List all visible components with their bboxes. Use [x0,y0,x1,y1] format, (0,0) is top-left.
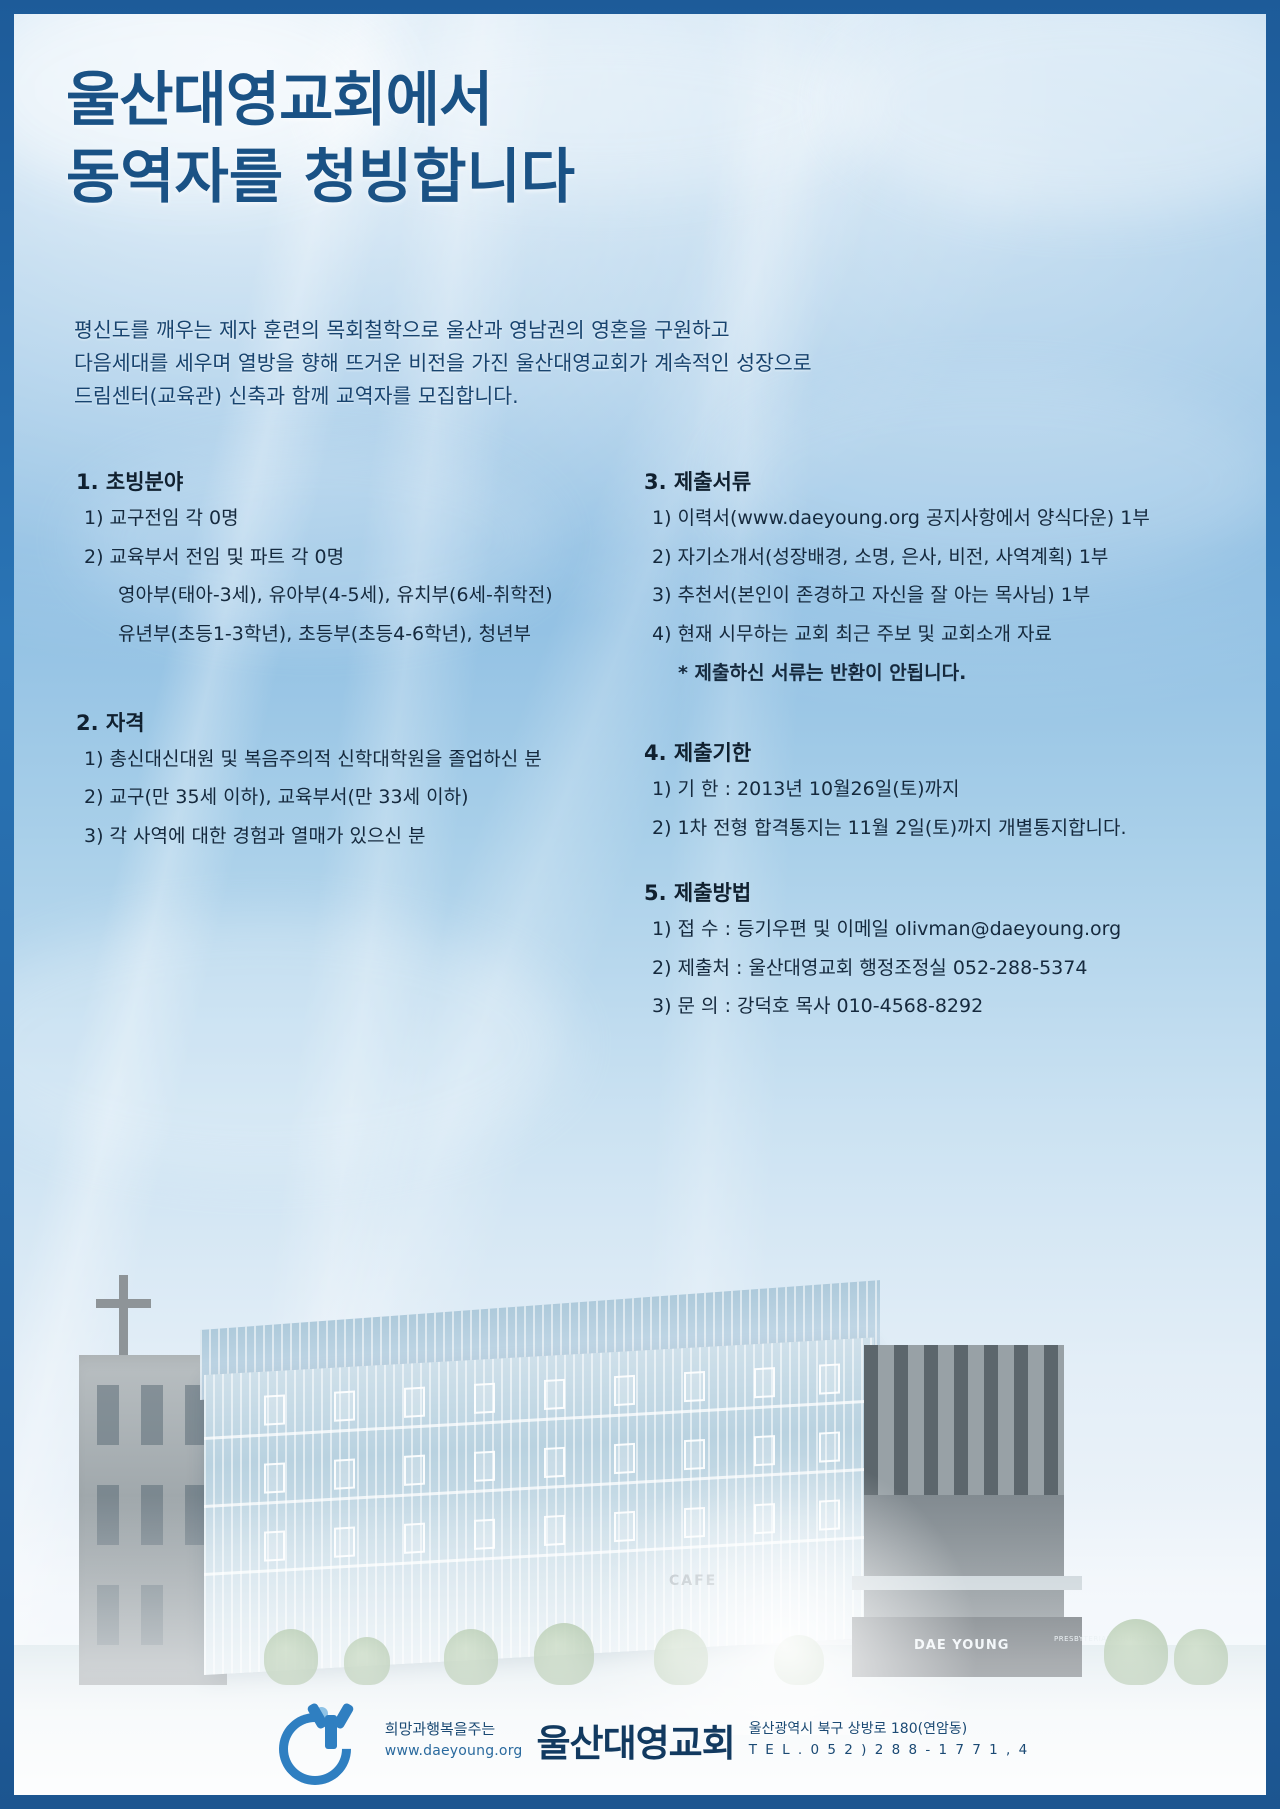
section-recruit-fields: 1. 초빙분야 1) 교구전임 각 0명 2) 교육부서 전임 및 파트 각 0… [76,466,596,647]
footer-bar: 희망과행복을주는 www.daeyoung.org 울산대영교회 울산광역시 북… [14,1709,1266,1771]
lead-line-3: 드림센터(교육관) 신축과 함께 교역자를 모집합니다. [74,380,812,413]
section-title: 2. 자격 [76,707,596,737]
section-title: 3. 제출서류 [644,466,1244,496]
list-item: 2) 1차 전형 합격통지는 11월 2일(토)까지 개별통지합니다. [652,816,1244,841]
documents-note: * 제출하신 서류는 반환이 안됩니다. [678,661,1244,686]
section-deadline: 4. 제출기한 1) 기 한 : 2013년 10월26일(토)까지 2) 1차… [644,737,1244,840]
list-subitem: 영아부(태아-3세), 유아부(4-5세), 유치부(6세-취학전) [118,583,596,608]
footer-address: 울산광역시 북구 상방로 180(연암동) [749,1719,1029,1741]
right-column: 3. 제출서류 1) 이력서(www.daeyoung.org 공지사항에서 양… [644,466,1244,1033]
list-item: 1) 기 한 : 2013년 10월26일(토)까지 [652,777,1244,802]
headline-line-2: 동역자를 청빙합니다 [66,139,575,216]
footer-church-name: 울산대영교회 [537,1713,735,1767]
list-item: 1) 교구전임 각 0명 [84,506,596,531]
list-item: 1) 접 수 : 등기우편 및 이메일 olivman@daeyoung.org [652,917,1244,942]
footer-slogan: 희망과행복을주는 [385,1719,523,1741]
entrance-canopy [852,1576,1082,1590]
list-item: 1) 총신대신대원 및 복음주의적 신학대학원을 졸업하신 분 [84,747,596,772]
section-submission-method: 5. 제출방법 1) 접 수 : 등기우편 및 이메일 olivman@daey… [644,877,1244,1019]
section-spacer [644,855,1244,877]
section-title: 5. 제출방법 [644,877,1244,907]
footer-telephone: T E L . 0 5 2 ) 2 8 8 - 1 7 7 1 , 4 [749,1740,1029,1761]
lead-paragraph: 평신도를 깨우는 제자 훈련의 목회철학으로 울산과 영남권의 영혼을 구원하고… [74,314,812,413]
list-item: 2) 제출처 : 울산대영교회 행정조정실 052-288-5374 [652,956,1244,981]
list-item: 1) 이력서(www.daeyoung.org 공지사항에서 양식다운) 1부 [652,506,1244,531]
section-spacer [76,661,596,707]
footer-contact-block: 울산광역시 북구 상방로 180(연암동) T E L . 0 5 2 ) 2 … [749,1719,1029,1762]
list-subitem: 유년부(초등1-3학년), 초등부(초등4-6학년), 청년부 [118,622,596,647]
headline-line-1: 울산대영교회에서 [66,62,575,139]
section-spacer [644,691,1244,737]
headline-block: 울산대영교회에서 동역자를 청빙합니다 [66,62,575,215]
list-item: 2) 교구(만 35세 이하), 교육부서(만 33세 이하) [84,785,596,810]
daeyoung-logo-icon [279,1709,371,1771]
cloud-decoration [14,914,574,1174]
list-item: 2) 교육부서 전임 및 파트 각 0명 [84,545,596,570]
footer-slogan-block: 희망과행복을주는 www.daeyoung.org [385,1719,523,1761]
poster: 울산대영교회에서 동역자를 청빙합니다 평신도를 깨우는 제자 훈련의 목회철학… [0,0,1280,1809]
cloud-decoration [834,14,1266,214]
list-item: 4) 현재 시무하는 교회 최근 주보 및 교회소개 자료 [652,622,1244,647]
section-title: 1. 초빙분야 [76,466,596,496]
poster-sheet: 울산대영교회에서 동역자를 청빙합니다 평신도를 깨우는 제자 훈련의 목회철학… [14,14,1266,1795]
lead-line-1: 평신도를 깨우는 제자 훈련의 목회철학으로 울산과 영남권의 영혼을 구원하고 [74,314,812,347]
lead-line-2: 다음세대를 세우며 열방을 향해 뜨거운 비전을 가진 울산대영교회가 계속적인… [74,347,812,380]
cafe-sign: CAFE [669,1573,717,1589]
landscaping-trees [14,1595,1266,1685]
list-item: 3) 추천서(본인이 존경하고 자신을 잘 아는 목사님) 1부 [652,583,1244,608]
left-column: 1. 초빙분야 1) 교구전임 각 0명 2) 교육부서 전임 및 파트 각 0… [76,466,596,863]
section-documents: 3. 제출서류 1) 이력서(www.daeyoung.org 공지사항에서 양… [644,466,1244,685]
section-qualifications: 2. 자격 1) 총신대신대원 및 복음주의적 신학대학원을 졸업하신 분 2)… [76,707,596,849]
list-item: 3) 각 사역에 대한 경험과 열매가 있으신 분 [84,824,596,849]
section-title: 4. 제출기한 [644,737,1244,767]
cross-icon [119,1275,128,1367]
footer-website-url[interactable]: www.daeyoung.org [385,1741,523,1761]
list-item: 2) 자기소개서(성장배경, 소명, 은사, 비전, 사역계획) 1부 [652,545,1244,570]
list-item: 3) 문 의 : 강덕호 목사 010-4568-8292 [652,994,1244,1019]
